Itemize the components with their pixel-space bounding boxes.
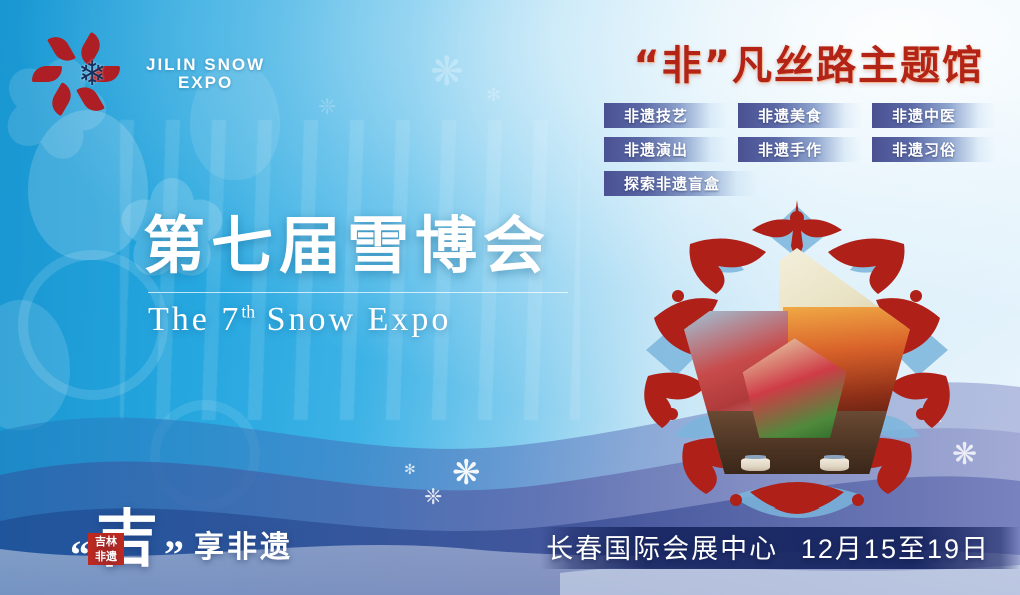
main-title: 第七届雪博会: [143, 216, 573, 278]
quote-close: ”: [164, 541, 184, 569]
venue-place: 长春国际会展中心: [546, 534, 778, 564]
tag-heritage-blind-box[interactable]: 探索非遗盲盒: [604, 171, 758, 196]
tag-row: 探索非遗盲盒: [604, 171, 996, 196]
subtitle-post: Snow Expo: [267, 301, 452, 338]
snowflake-icon: ❋: [452, 456, 481, 490]
brand-character: 吉 吉林 非遗: [94, 512, 160, 569]
tag-heritage-customs[interactable]: 非遗习俗: [872, 137, 996, 162]
jar-icon: [820, 458, 849, 472]
jilin-snow-expo-logo[interactable]: ❄ JILIN SNOW EXPO: [56, 38, 265, 110]
jar-icon: [741, 458, 770, 472]
tag-heritage-performance[interactable]: 非遗演出: [604, 137, 728, 162]
seal-line-2: 非遗: [95, 549, 117, 564]
title-divider: [148, 292, 568, 293]
intangible-heritage-collage: [632, 200, 962, 520]
quote-open: “: [70, 541, 90, 569]
main-subtitle: The 7th Snow Expo: [148, 300, 588, 339]
subtitle-ordinal: th: [241, 302, 255, 322]
seal-line-1: 吉林: [95, 534, 117, 549]
logo-line-1: JILIN SNOW: [146, 56, 265, 74]
snowflake-icon: ❋: [430, 52, 464, 92]
heritage-tag-list: 非遗技艺 非遗美食 非遗中医 非遗演出 非遗手作 非遗习俗 探索非遗盲盒: [604, 103, 996, 205]
logo-line-2: EXPO: [178, 74, 233, 92]
seal-stamp: 吉林 非遗: [88, 533, 124, 565]
tag-heritage-food[interactable]: 非遗美食: [738, 103, 862, 128]
snowflake-icon: ❄: [78, 54, 107, 94]
venue-info: 长春国际会展中心 12月15至19日: [546, 536, 990, 563]
tag-row: 非遗技艺 非遗美食 非遗中医: [604, 103, 996, 128]
snowflake-icon: ✻: [404, 462, 416, 476]
tag-row: 非遗演出 非遗手作 非遗习俗: [604, 137, 996, 162]
brand-lockup: “ 吉 吉林 非遗 ” 享非遗: [70, 512, 293, 569]
subtitle-pre: The 7: [148, 301, 241, 338]
snowflake-icon: ❈: [318, 96, 336, 118]
tag-heritage-medicine[interactable]: 非遗中医: [872, 103, 996, 128]
venue-date: 12月15至19日: [801, 534, 990, 564]
tag-heritage-handmade[interactable]: 非遗手作: [738, 137, 862, 162]
logo-wordmark: JILIN SNOW EXPO: [146, 56, 265, 92]
brand-tagline: 享非遗: [194, 527, 293, 569]
snowflake-icon: ✻: [486, 86, 501, 104]
snowflake-pinwheel-emblem-icon: ❄: [56, 38, 128, 110]
tag-heritage-crafts[interactable]: 非遗技艺: [604, 103, 728, 128]
snow-expo-poster: ❋ ❈ ✻ ❋ ✻ ❈ ❋ ✻ ❈ ❄ JILIN SNOW EXPO “非”凡…: [0, 0, 1020, 595]
snowflake-icon: ❈: [424, 486, 442, 508]
page-title-silk-road-pavilion: “非”凡丝路主题馆: [633, 46, 984, 86]
